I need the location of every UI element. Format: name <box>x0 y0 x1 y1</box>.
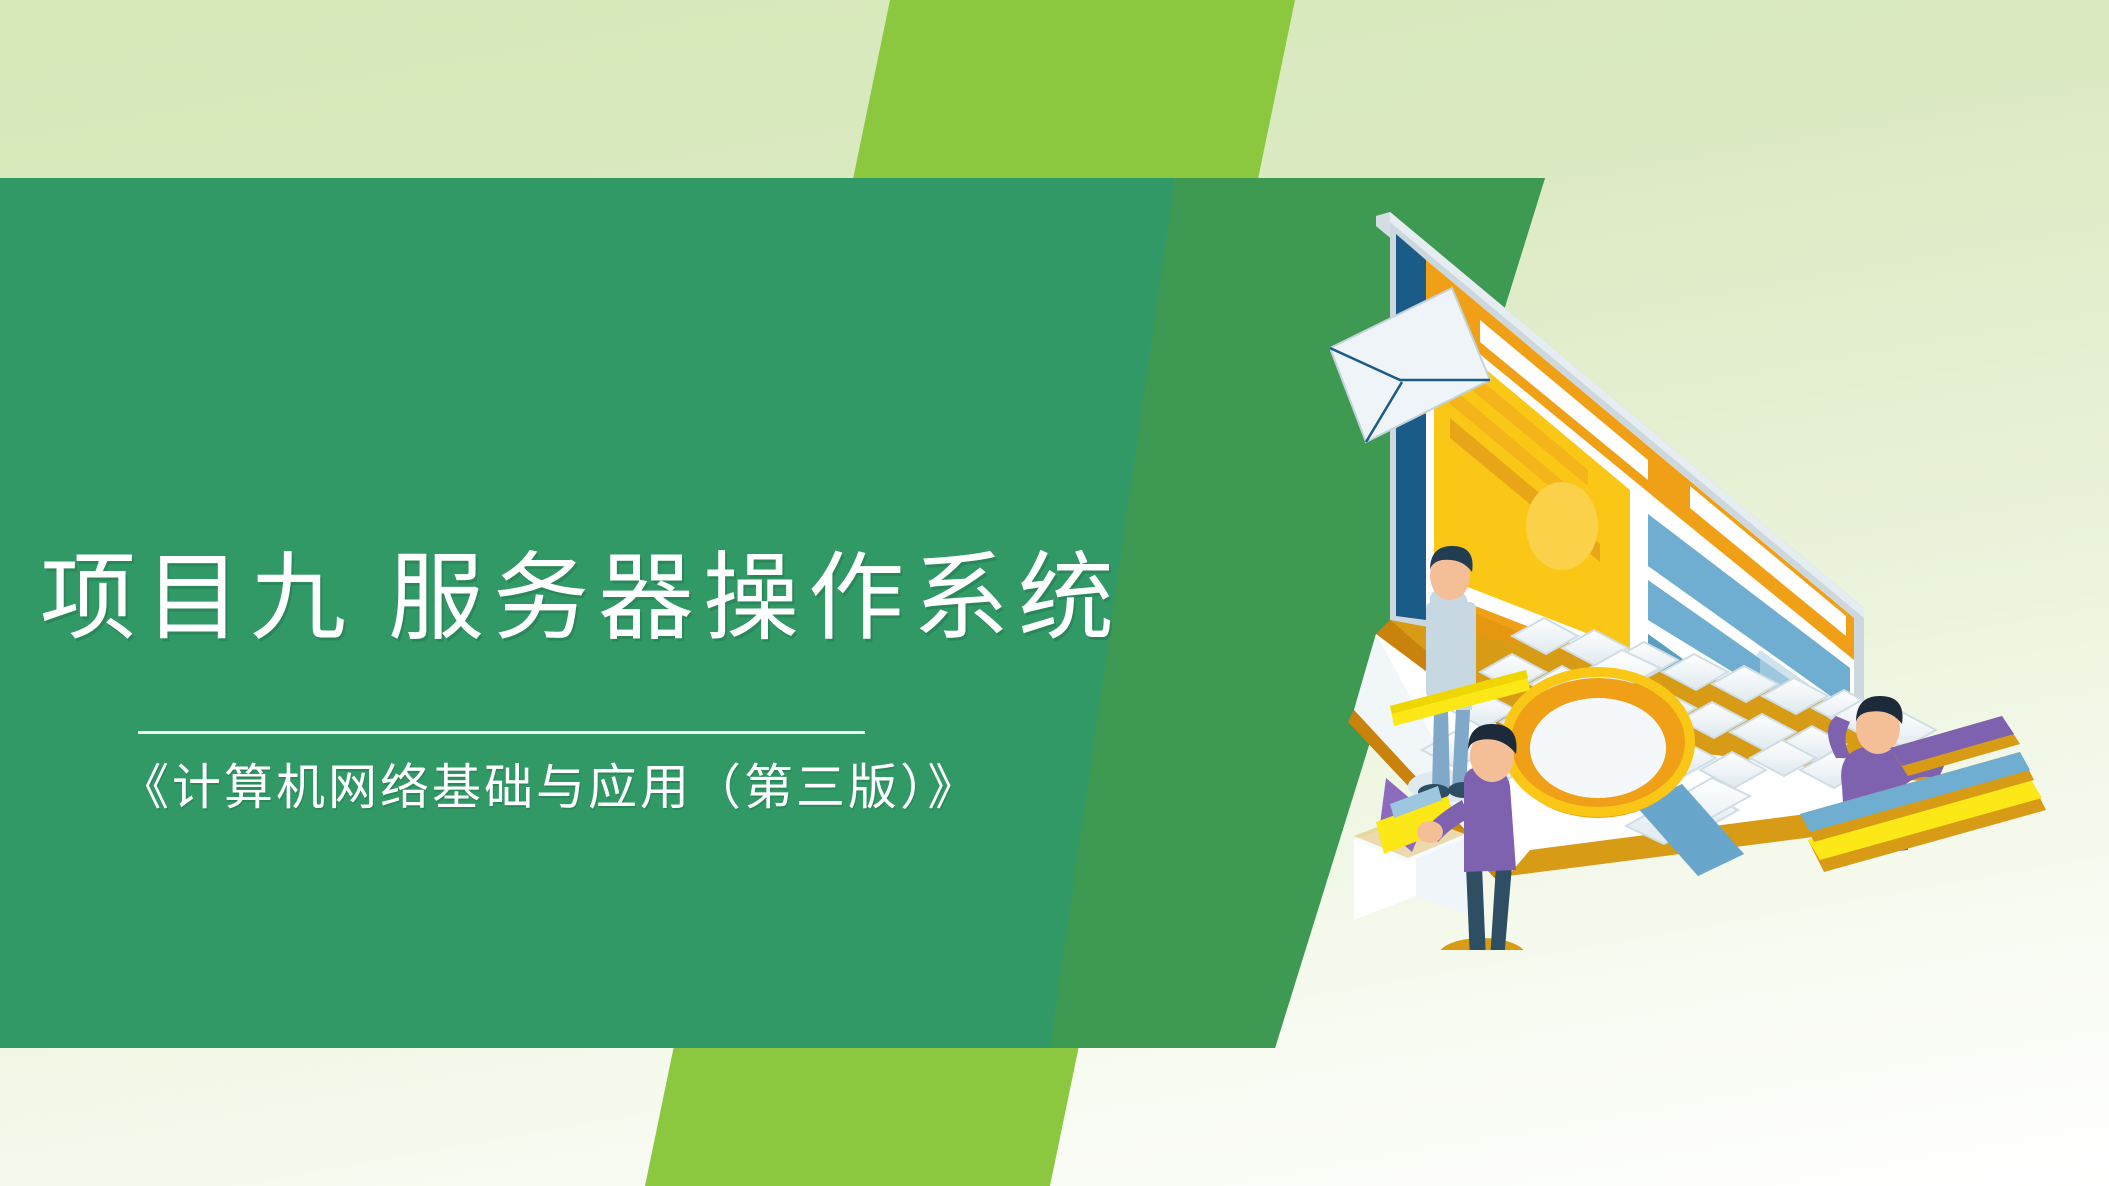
presentation-slide: 项目九 服务器操作系统 《计算机网络基础与应用（第三版）》 <box>0 0 2109 1186</box>
hero-illustration <box>1330 150 2109 950</box>
avatar <box>1526 482 1598 570</box>
